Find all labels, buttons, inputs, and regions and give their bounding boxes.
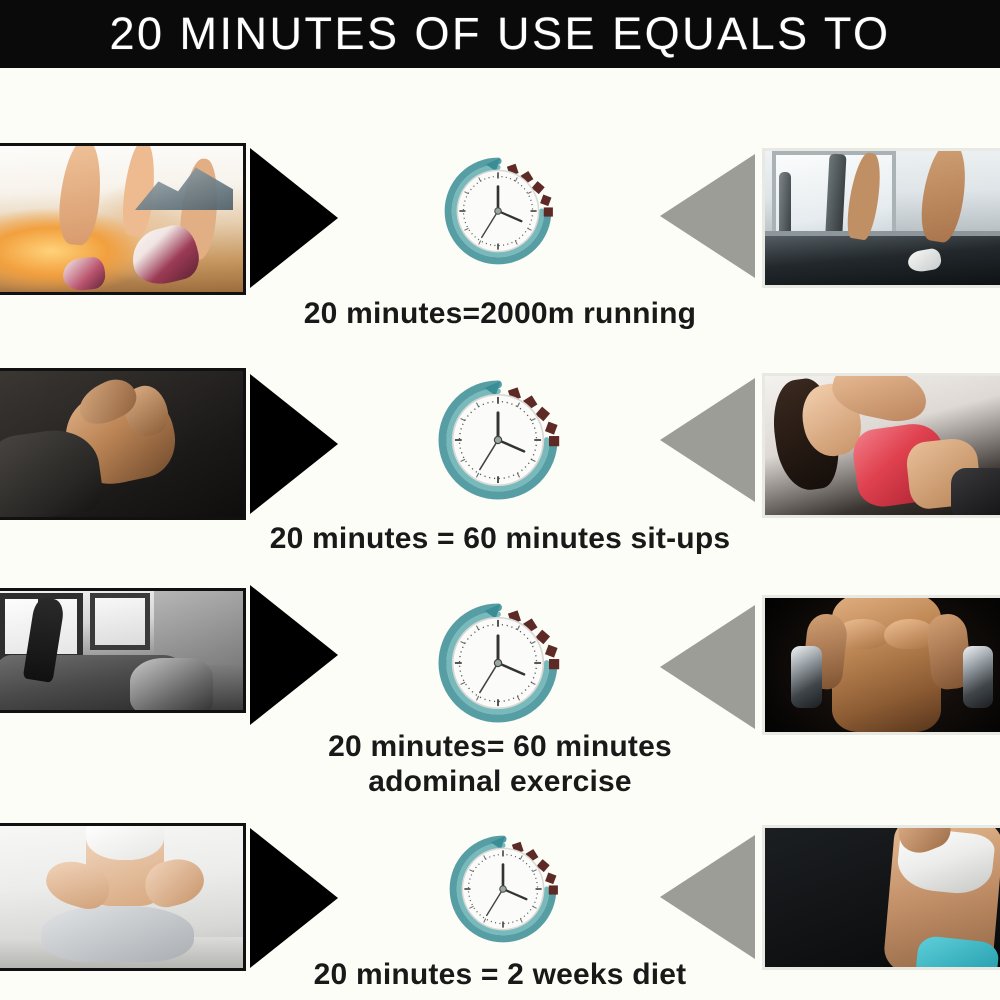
photo-man-situps <box>0 368 246 520</box>
gray-arrow-left-icon <box>660 154 755 278</box>
black-arrow-right-icon <box>250 374 338 514</box>
bodybuilder-artwork <box>765 598 1000 732</box>
toned-abs-artwork <box>765 828 1000 967</box>
clock-timer-icon <box>442 828 564 950</box>
gray-arrow-left-icon <box>660 378 755 502</box>
woman-shorts <box>951 468 1000 515</box>
gray-arrow-left-icon <box>660 835 755 959</box>
gray-arrow-left-icon <box>660 605 755 729</box>
photo-woman-meditating <box>0 823 246 971</box>
bodybuilder-torso <box>832 598 941 732</box>
photo-woman-toned-abs <box>762 825 1000 970</box>
woman-body <box>130 658 214 710</box>
black-arrow-right-icon <box>250 585 338 725</box>
room-wall <box>154 591 243 665</box>
caption-abdominal-line1: 20 minutes= 60 minutes <box>0 730 1000 764</box>
living-room-artwork <box>0 591 243 710</box>
clock-timer-icon <box>430 595 566 731</box>
caption-abdominal-line2: adominal exercise <box>0 765 1000 799</box>
dumbbell-right <box>963 646 994 708</box>
black-arrow-right-icon <box>250 828 338 968</box>
woman-situps-artwork <box>765 376 1000 515</box>
photo-woman-situps <box>762 373 1000 518</box>
window-right <box>90 593 149 650</box>
grey-leggings <box>41 906 194 963</box>
black-arrow-right-icon <box>250 148 338 288</box>
man-situps-artwork <box>0 371 243 517</box>
clock-timer-icon <box>430 372 566 508</box>
photo-bodybuilder-dumbbells <box>762 595 1000 735</box>
dumbbell-left <box>791 646 822 708</box>
caption-diet: 20 minutes = 2 weeks diet <box>0 958 1000 992</box>
caption-situps: 20 minutes = 60 minutes sit-ups <box>0 522 1000 556</box>
meditation-artwork <box>0 826 243 968</box>
photo-woman-leg-raises <box>0 588 246 713</box>
clock-timer-icon <box>437 150 559 272</box>
